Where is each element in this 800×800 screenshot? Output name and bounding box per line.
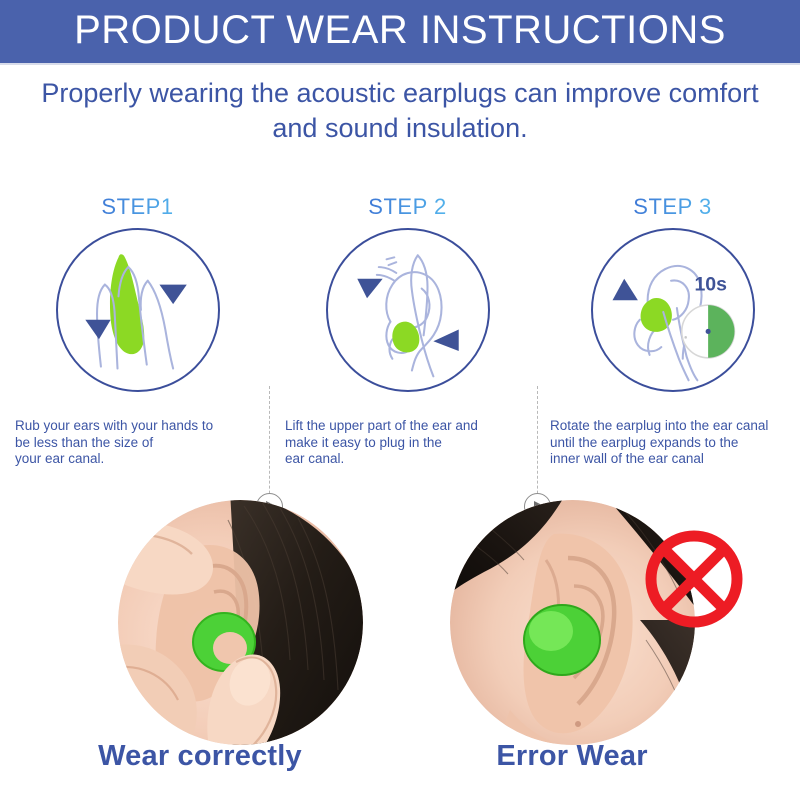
photo-comparison-row: Wear correctly xyxy=(0,495,800,800)
ear-with-earplug-correct-photo xyxy=(118,500,363,745)
photo-item-error: Error Wear xyxy=(400,495,800,800)
steps-row: STEP1 xyxy=(0,190,800,490)
photo-caption-error: Error Wear xyxy=(372,740,772,773)
header-underline xyxy=(0,63,800,65)
finger-inserting-earplug-timer-icon: 10s xyxy=(593,230,753,390)
page-subtitle: Properly wearing the acoustic earplugs c… xyxy=(40,76,760,146)
step-caption: Rub your ears with your hands to be less… xyxy=(15,418,273,468)
page-title: PRODUCT WEAR INSTRUCTIONS xyxy=(0,0,800,63)
step-item-3: STEP 3 xyxy=(540,190,800,490)
photo-item-correct: Wear correctly xyxy=(0,495,400,800)
timer-label: 10s xyxy=(694,273,727,295)
step-label: STEP 2 xyxy=(275,194,540,220)
step-illustration-circle: 10s xyxy=(591,228,755,392)
step-label: STEP 3 xyxy=(540,194,800,220)
no-entry-cross-icon xyxy=(640,525,748,633)
step-item-2: STEP 2 xyxy=(275,190,540,490)
hand-lifting-ear-icon xyxy=(328,230,488,390)
step-caption: Rotate the earplug into the ear canal un… xyxy=(550,418,800,468)
fingers-rolling-earplug-icon xyxy=(58,230,218,390)
step-label: STEP1 xyxy=(5,194,270,220)
step-illustration-circle xyxy=(56,228,220,392)
photo-caption-correct: Wear correctly xyxy=(0,740,400,773)
step-illustration-circle xyxy=(326,228,490,392)
step-caption: Lift the upper part of the ear and make … xyxy=(285,418,543,468)
step-item-1: STEP1 xyxy=(5,190,270,490)
